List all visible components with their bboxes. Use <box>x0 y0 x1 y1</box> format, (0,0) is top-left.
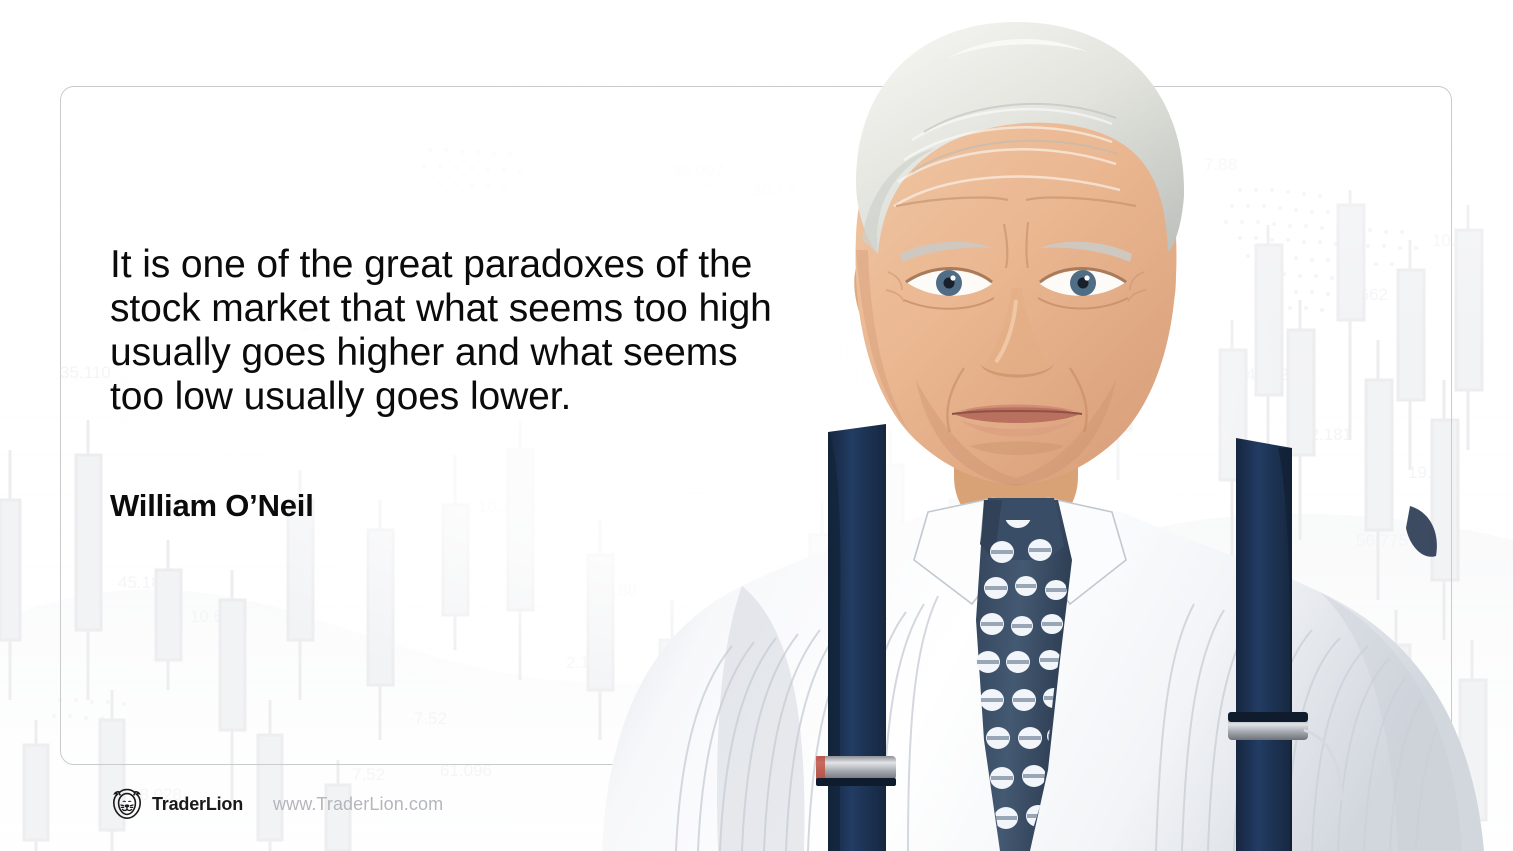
author-name: William O’Neil <box>110 487 314 525</box>
brand-url: www.TraderLion.com <box>273 794 443 815</box>
brand-name: TraderLion <box>152 794 243 815</box>
lion-head-icon <box>112 788 142 820</box>
footer-branding: TraderLion www.TraderLion.com <box>112 788 443 820</box>
svg-text:35.110: 35.110 <box>60 363 111 382</box>
svg-text:7.52: 7.52 <box>352 765 385 784</box>
portrait-illustration <box>556 0 1513 851</box>
quote-text: It is one of the great paradoxes of the … <box>110 243 800 419</box>
svg-text:7.52: 7.52 <box>414 709 447 728</box>
quote-block: It is one of the great paradoxes of the … <box>110 243 800 419</box>
svg-text:61.096: 61.096 <box>440 761 492 780</box>
quote-graphic-canvas: 35.110 45.187 10.662 18.228 11.09 7.52 1… <box>0 0 1513 851</box>
